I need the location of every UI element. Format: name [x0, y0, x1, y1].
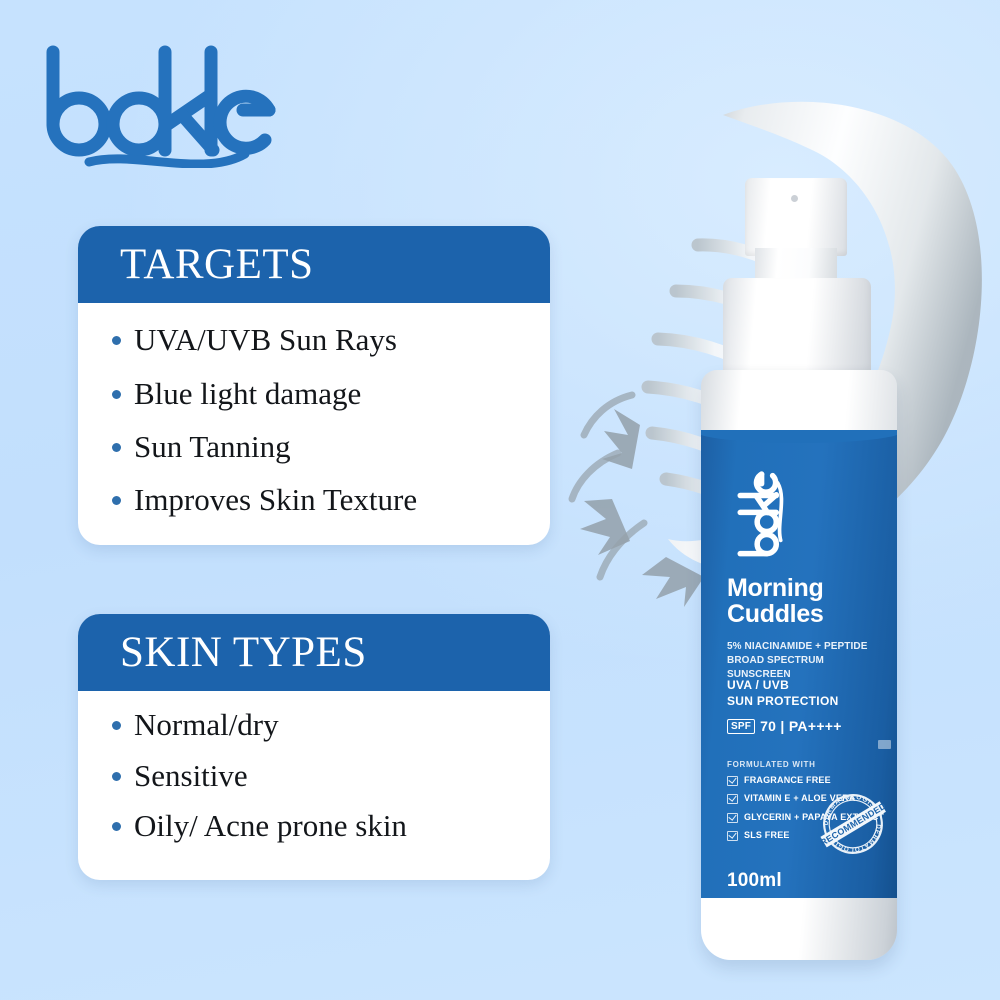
check-icon [727, 813, 738, 823]
ingredient-item: FRAGRANCE FREE [727, 775, 887, 786]
product-name: Morning Cuddles [727, 576, 887, 628]
poster-canvas: TARGETS UVA/UVB Sun Rays Blue light dama… [0, 0, 1000, 1000]
card-targets: TARGETS UVA/UVB Sun Rays Blue light dama… [78, 226, 550, 545]
card-targets-header: TARGETS [78, 226, 550, 303]
spf-row: SPF 70 | PA++++ [727, 718, 887, 734]
list-item: Sun Tanning [112, 427, 524, 467]
spf-value: 70 | PA++++ [760, 718, 842, 734]
ingredient-label: FRAGRANCE FREE [744, 775, 831, 786]
check-icon [727, 831, 738, 841]
pump-head [745, 178, 847, 256]
protection-line2: SUN PROTECTION [727, 694, 887, 710]
bottle-brand-logo [701, 469, 824, 561]
list-item-label: Sensitive [134, 756, 248, 796]
list-item-label: Blue light damage [134, 374, 361, 414]
list-item: Blue light damage [112, 374, 524, 414]
bottle-label: Morning Cuddles 5% NIACINAMIDE + PEPTIDE… [701, 430, 897, 898]
product-volume: 100ml [727, 870, 887, 892]
bullet-dot-icon [112, 772, 121, 781]
list-item: UVA/UVB Sun Rays [112, 320, 524, 360]
check-icon [727, 794, 738, 804]
card-skin-types-body: Normal/dry Sensitive Oily/ Acne prone sk… [78, 691, 550, 880]
dermatologist-recommended-stamp: DERMATOLOGIST DERMATOLOGIST RECOMMENDED [817, 788, 889, 860]
list-item: Sensitive [112, 756, 524, 796]
brand-logo [33, 38, 283, 168]
list-item-label: Oily/ Acne prone skin [134, 806, 407, 846]
product-name-line1: Morning [727, 576, 887, 602]
card-targets-body: UVA/UVB Sun Rays Blue light damage Sun T… [78, 303, 550, 544]
list-item-label: Sun Tanning [134, 427, 291, 467]
card-skin-types-title: SKIN TYPES [120, 630, 550, 676]
bullet-dot-icon [112, 443, 121, 452]
list-item-label: Improves Skin Texture [134, 480, 417, 520]
formulated-heading: FORMULATED WITH [727, 760, 887, 769]
bullet-dot-icon [112, 336, 121, 345]
card-skin-types-header: SKIN TYPES [78, 614, 550, 691]
check-icon [727, 776, 738, 786]
spf-badge: SPF [727, 719, 755, 734]
bullet-dot-icon [112, 721, 121, 730]
list-item-label: UVA/UVB Sun Rays [134, 320, 397, 360]
list-item: Improves Skin Texture [112, 480, 524, 520]
ingredient-label: SLS FREE [744, 830, 790, 841]
product-bottle: Morning Cuddles 5% NIACINAMIDE + PEPTIDE… [693, 178, 905, 968]
label-edge-mark [878, 740, 891, 749]
card-skin-types: SKIN TYPES Normal/dry Sensitive Oily/ Ac… [78, 614, 550, 880]
product-subtitle: 5% NIACINAMIDE + PEPTIDE BROAD SPECTRUM … [727, 640, 887, 682]
list-item: Normal/dry [112, 705, 524, 745]
protection-line1: UVA / UVB [727, 678, 887, 694]
bullet-dot-icon [112, 822, 121, 831]
bullet-dot-icon [112, 496, 121, 505]
bullet-dot-icon [112, 390, 121, 399]
list-item-label: Normal/dry [134, 705, 279, 745]
product-protection: UVA / UVB SUN PROTECTION [727, 678, 887, 710]
card-targets-title: TARGETS [120, 242, 550, 288]
list-item: Oily/ Acne prone skin [112, 806, 524, 846]
product-actives: 5% NIACINAMIDE + PEPTIDE [727, 640, 887, 654]
product-name-line2: Cuddles [727, 602, 887, 628]
pump-collar [723, 278, 871, 378]
